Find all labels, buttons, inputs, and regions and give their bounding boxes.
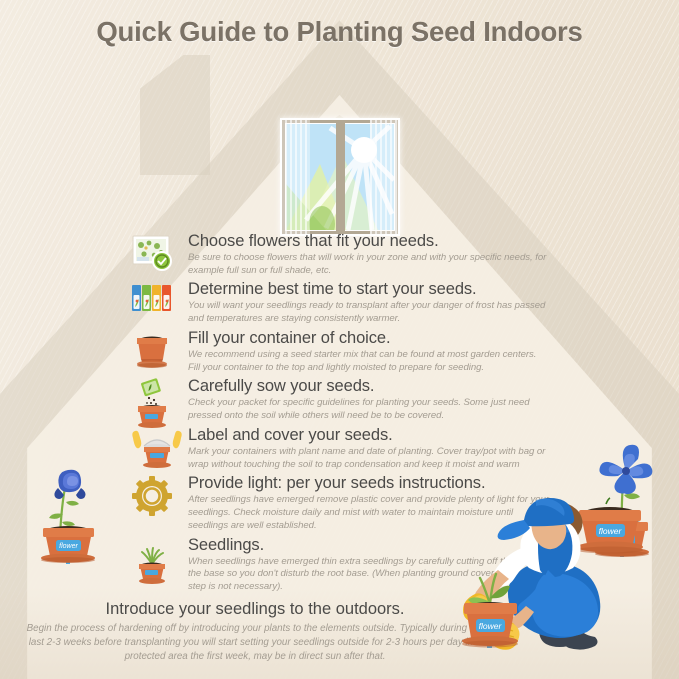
pot-label-text: flower (599, 526, 623, 536)
seed-catalog-icon (130, 234, 182, 280)
step-body: Be sure to choose flowers that will work… (188, 252, 550, 278)
sun-light-icon (130, 476, 182, 522)
step-heading: Determine best time to start your seeds. (188, 280, 550, 299)
sowing-seeds-packet-icon (130, 379, 182, 425)
pot-label-text: flower (59, 543, 78, 550)
step-body: We recommend using a seed starter mix th… (188, 349, 550, 375)
seedling-pot-icon (130, 538, 182, 584)
step-item: Carefully sow your seeds. Check your pac… (130, 377, 550, 422)
sunny-window-illustration (280, 118, 400, 236)
blue-rose-potted-plant: flower (30, 440, 116, 560)
window-curtain-right (370, 118, 400, 236)
step-heading: Choose flowers that fit your needs. (188, 232, 550, 251)
infographic-canvas: Quick Guide to Planting Seed Indoors (0, 0, 679, 679)
step-item: Label and cover your seeds. Mark your co… (130, 426, 550, 471)
outro-block: Introduce your seedlings to the outdoors… (20, 600, 490, 664)
step-heading: Provide light: per your seeds instructio… (188, 474, 550, 493)
step-heading: Carefully sow your seeds. (188, 377, 550, 396)
filled-pot-icon (130, 331, 182, 377)
window-curtain-left (280, 118, 310, 236)
step-body: Mark your containers with plant name and… (188, 446, 550, 472)
background-pot: flower (577, 498, 643, 554)
gardener-planting-illustration: flower (428, 498, 679, 679)
step-item: Determine best time to start your seeds.… (130, 280, 550, 325)
pot-label-text: flower (479, 621, 503, 631)
step-heading: Fill your container of choice. (188, 329, 550, 348)
outro-heading: Introduce your seedlings to the outdoors… (20, 600, 490, 619)
seed-packets-calendar-icon (130, 282, 182, 328)
page-title: Quick Guide to Planting Seed Indoors (0, 16, 679, 48)
step-item: Choose flowers that fit your needs. Be s… (130, 232, 550, 277)
step-body: Check your packet for specific guideline… (188, 397, 550, 423)
window-mullion (336, 120, 345, 234)
step-body: You will want your seedlings ready to tr… (188, 300, 550, 326)
step-heading: Label and cover your seeds. (188, 426, 550, 445)
labeled-covered-pot-icon (130, 428, 182, 474)
step-item: Fill your container of choice. We recomm… (130, 329, 550, 374)
outro-body: Begin the process of hardening off by in… (20, 622, 490, 664)
